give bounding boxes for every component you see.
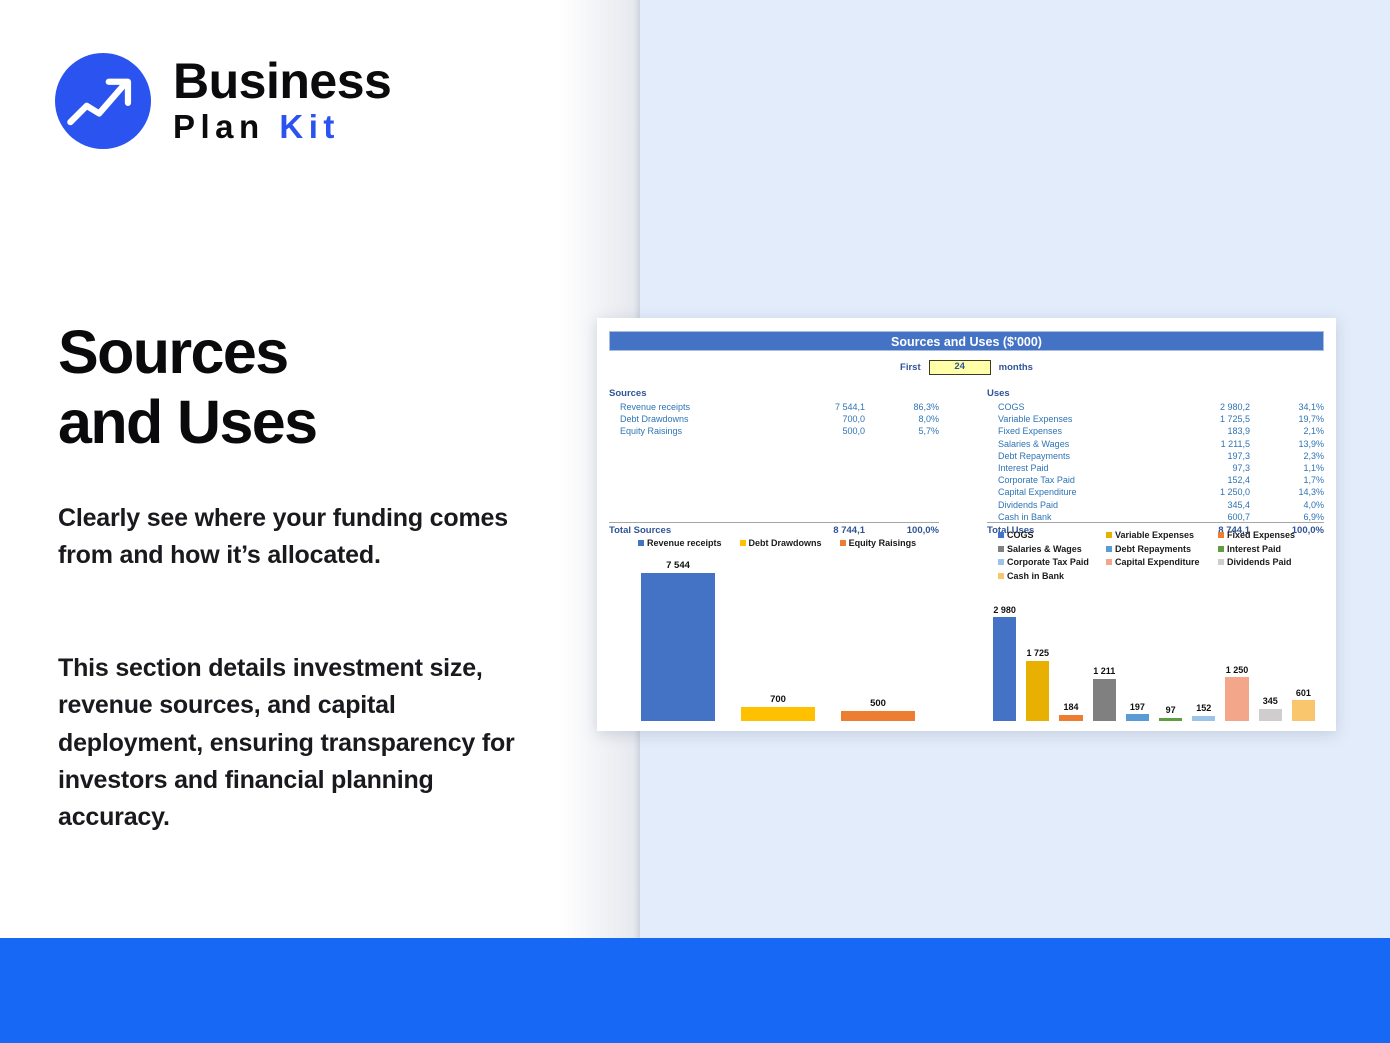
- row-label: Debt Drawdowns: [609, 413, 803, 425]
- row-pct: 14,3%: [1262, 486, 1324, 498]
- row-pct: 4,0%: [1262, 499, 1324, 511]
- spacer-row: [609, 511, 939, 523]
- bar-value-label: 7 544: [666, 560, 690, 571]
- legend-item: Debt Repayments: [1106, 544, 1218, 554]
- legend-item: Fixed Expenses: [1218, 530, 1308, 540]
- row-amount: 197,3: [1188, 450, 1262, 462]
- row-pct: 5,7%: [877, 425, 939, 437]
- legend-label: Fixed Expenses: [1227, 530, 1295, 540]
- uses-chart-legend: COGSVariable ExpensesFixed ExpensesSalar…: [998, 530, 1308, 581]
- row-amount: 1 725,5: [1188, 413, 1262, 425]
- row-pct: 1,1%: [1262, 462, 1324, 474]
- bar-value-label: 184: [1063, 702, 1078, 712]
- sources-bar-chart: 7 544700500: [628, 556, 928, 721]
- table-header-row: Uses: [987, 388, 1324, 401]
- row-amount: 700,0: [803, 413, 877, 425]
- uses-table: Uses COGS 2 980,2 34,1% Variable Expense…: [987, 388, 1324, 536]
- row-pct: 86,3%: [877, 401, 939, 413]
- months-prefix-label: First: [900, 362, 921, 373]
- row-label: Capital Expenditure: [987, 486, 1188, 498]
- legend-item: Capital Expenditure: [1106, 557, 1218, 567]
- total-label: Total Sources: [609, 523, 803, 537]
- spacer-row: [609, 462, 939, 474]
- legend-swatch-icon: [998, 559, 1004, 565]
- table-row: COGS 2 980,2 34,1%: [987, 401, 1324, 413]
- bar-column: 2 980: [988, 600, 1021, 721]
- brand-name-line2: Plan Kit: [173, 108, 391, 147]
- legend-swatch-icon: [1218, 559, 1224, 565]
- legend-item: Debt Drawdowns: [740, 538, 822, 548]
- legend-label: Variable Expenses: [1115, 530, 1194, 540]
- row-amount: 7 544,1: [803, 401, 877, 413]
- bar-value-label: 2 980: [993, 605, 1016, 615]
- bar-column: 1 725: [1021, 600, 1054, 721]
- table-row: Variable Expenses 1 725,5 19,7%: [987, 413, 1324, 425]
- legend-swatch-icon: [1218, 546, 1224, 552]
- legend-label: Interest Paid: [1227, 544, 1281, 554]
- legend-swatch-icon: [1106, 546, 1112, 552]
- legend-item: COGS: [998, 530, 1106, 540]
- legend-item: Revenue receipts: [638, 538, 722, 548]
- row-label: Corporate Tax Paid: [987, 474, 1188, 486]
- bar: [841, 711, 915, 721]
- row-amount: 600,7: [1188, 511, 1262, 523]
- brand-plan-word: Plan: [173, 108, 265, 145]
- months-input[interactable]: 24: [929, 360, 991, 375]
- bar-value-label: 197: [1130, 702, 1145, 712]
- bar-value-label: 1 250: [1226, 665, 1249, 675]
- bar-value-label: 152: [1196, 703, 1211, 713]
- legend-swatch-icon: [998, 532, 1004, 538]
- page-title: Sources and Uses: [58, 318, 558, 457]
- spacer-row: [609, 474, 939, 486]
- row-amount: 183,9: [1188, 425, 1262, 437]
- bar-column: 197: [1121, 600, 1154, 721]
- bar-value-label: 1 725: [1027, 648, 1050, 658]
- row-pct: 2,1%: [1262, 425, 1324, 437]
- legend-item: Dividends Paid: [1218, 557, 1308, 567]
- sources-chart-legend: Revenue receiptsDebt DrawdownsEquity Rai…: [638, 538, 928, 548]
- legend-label: Corporate Tax Paid: [1007, 557, 1089, 567]
- table-row: Revenue receipts 7 544,1 86,3%: [609, 401, 939, 413]
- table-row: Equity Raisings 500,0 5,7%: [609, 425, 939, 437]
- table-row: Capital Expenditure 1 250,0 14,3%: [987, 486, 1324, 498]
- spacer-row: [609, 486, 939, 498]
- uses-bar-chart: 2 9801 7251841 211197971521 250345601: [988, 600, 1320, 721]
- legend-item: Corporate Tax Paid: [998, 557, 1106, 567]
- bar-value-label: 500: [870, 698, 886, 709]
- bar-column: 1 211: [1088, 600, 1121, 721]
- bar-value-label: 700: [770, 694, 786, 705]
- row-label: Salaries & Wages: [987, 438, 1188, 450]
- bar: [1059, 715, 1082, 721]
- row-label: Debt Repayments: [987, 450, 1188, 462]
- legend-label: Debt Repayments: [1115, 544, 1191, 554]
- row-label: Interest Paid: [987, 462, 1188, 474]
- bar: [1093, 679, 1116, 721]
- legend-item: Variable Expenses: [1106, 530, 1218, 540]
- legend-swatch-icon: [638, 540, 644, 546]
- legend-swatch-icon: [998, 546, 1004, 552]
- bar-column: 184: [1054, 600, 1087, 721]
- legend-swatch-icon: [840, 540, 846, 546]
- legend-item: Equity Raisings: [840, 538, 917, 548]
- legend-item: Interest Paid: [1218, 544, 1308, 554]
- row-amount: 500,0: [803, 425, 877, 437]
- legend-item: Cash in Bank: [998, 571, 1106, 581]
- legend-swatch-icon: [740, 540, 746, 546]
- legend-label: COGS: [1007, 530, 1034, 540]
- legend-label: Equity Raisings: [849, 538, 917, 548]
- sheet-title-bar: Sources and Uses ($'000): [609, 331, 1324, 351]
- row-amount: 152,4: [1188, 474, 1262, 486]
- bar: [641, 573, 715, 721]
- row-amount: 97,3: [1188, 462, 1262, 474]
- uses-heading: Uses: [987, 388, 1324, 401]
- spacer-row: [609, 450, 939, 462]
- row-label: COGS: [987, 401, 1188, 413]
- table-row: Salaries & Wages 1 211,5 13,9%: [987, 438, 1324, 450]
- table-row: Interest Paid 97,3 1,1%: [987, 462, 1324, 474]
- row-pct: 34,1%: [1262, 401, 1324, 413]
- legend-label: Debt Drawdowns: [749, 538, 822, 548]
- bar-column: 500: [828, 556, 928, 721]
- bar: [1026, 661, 1049, 721]
- sources-table: Sources Revenue receipts 7 544,1 86,3% D…: [609, 388, 939, 536]
- legend-swatch-icon: [1106, 532, 1112, 538]
- bar: [1259, 709, 1282, 721]
- row-amount: 345,4: [1188, 499, 1262, 511]
- bar: [993, 617, 1016, 721]
- total-sources-row: Total Sources 8 744,1 100,0%: [609, 523, 939, 537]
- bar-value-label: 97: [1166, 705, 1176, 715]
- bottom-accent-bar: [0, 938, 1390, 1043]
- row-amount: 1 211,5: [1188, 438, 1262, 450]
- bar: [1292, 700, 1315, 721]
- legend-label: Dividends Paid: [1227, 557, 1292, 567]
- legend-swatch-icon: [1106, 559, 1112, 565]
- bar-column: 97: [1154, 600, 1187, 721]
- legend-label: Salaries & Wages: [1007, 544, 1082, 554]
- row-label: Variable Expenses: [987, 413, 1188, 425]
- brand-kit-word: Kit: [279, 108, 340, 145]
- total-pct: 100,0%: [877, 523, 939, 537]
- brand-logo: Business Plan Kit: [55, 53, 391, 149]
- description-paragraph-2: This section details investment size, re…: [58, 650, 518, 836]
- growth-arrow-chart-icon: [55, 53, 151, 149]
- row-pct: 2,3%: [1262, 450, 1324, 462]
- table-row: Fixed Expenses 183,9 2,1%: [987, 425, 1324, 437]
- row-label: Equity Raisings: [609, 425, 803, 437]
- bar-column: 7 544: [628, 556, 728, 721]
- table-row: Debt Drawdowns 700,0 8,0%: [609, 413, 939, 425]
- row-amount: 2 980,2: [1188, 401, 1262, 413]
- table-row: Dividends Paid 345,4 4,0%: [987, 499, 1324, 511]
- row-pct: 13,9%: [1262, 438, 1324, 450]
- bar: [1192, 716, 1215, 721]
- row-pct: 8,0%: [877, 413, 939, 425]
- table-header-row: Sources: [609, 388, 939, 401]
- total-amount: 8 744,1: [803, 523, 877, 537]
- bar-value-label: 601: [1296, 688, 1311, 698]
- row-label: Fixed Expenses: [987, 425, 1188, 437]
- brand-name-line1: Business: [173, 56, 391, 106]
- bar-value-label: 1 211: [1093, 666, 1115, 676]
- row-label: Revenue receipts: [609, 401, 803, 413]
- legend-swatch-icon: [998, 573, 1004, 579]
- legend-item: Salaries & Wages: [998, 544, 1106, 554]
- bar: [1126, 714, 1149, 721]
- bar: [1159, 718, 1182, 721]
- spacer-row: [609, 438, 939, 450]
- legend-label: Capital Expenditure: [1115, 557, 1200, 567]
- bar-column: 1 250: [1220, 600, 1253, 721]
- table-row: Debt Repayments 197,3 2,3%: [987, 450, 1324, 462]
- spacer-row: [609, 499, 939, 511]
- legend-label: Cash in Bank: [1007, 571, 1064, 581]
- bar: [1225, 677, 1248, 721]
- months-suffix-label: months: [999, 362, 1033, 373]
- legend-swatch-icon: [1218, 532, 1224, 538]
- row-amount: 1 250,0: [1188, 486, 1262, 498]
- bar-column: 345: [1254, 600, 1287, 721]
- bar-value-label: 345: [1263, 696, 1278, 706]
- bar-column: 700: [728, 556, 828, 721]
- description-paragraph-1: Clearly see where your funding comes fro…: [58, 500, 528, 575]
- row-pct: 1,7%: [1262, 474, 1324, 486]
- row-label: Cash in Bank: [987, 511, 1188, 523]
- sources-heading: Sources: [609, 388, 939, 401]
- bar-column: 601: [1287, 600, 1320, 721]
- table-row: Corporate Tax Paid 152,4 1,7%: [987, 474, 1324, 486]
- months-input-row: First 24 months: [609, 358, 1324, 376]
- bar-column: 152: [1187, 600, 1220, 721]
- row-label: Dividends Paid: [987, 499, 1188, 511]
- row-pct: 6,9%: [1262, 511, 1324, 523]
- legend-label: Revenue receipts: [647, 538, 722, 548]
- row-pct: 19,7%: [1262, 413, 1324, 425]
- table-row: Cash in Bank 600,7 6,9%: [987, 511, 1324, 523]
- bar: [741, 707, 815, 721]
